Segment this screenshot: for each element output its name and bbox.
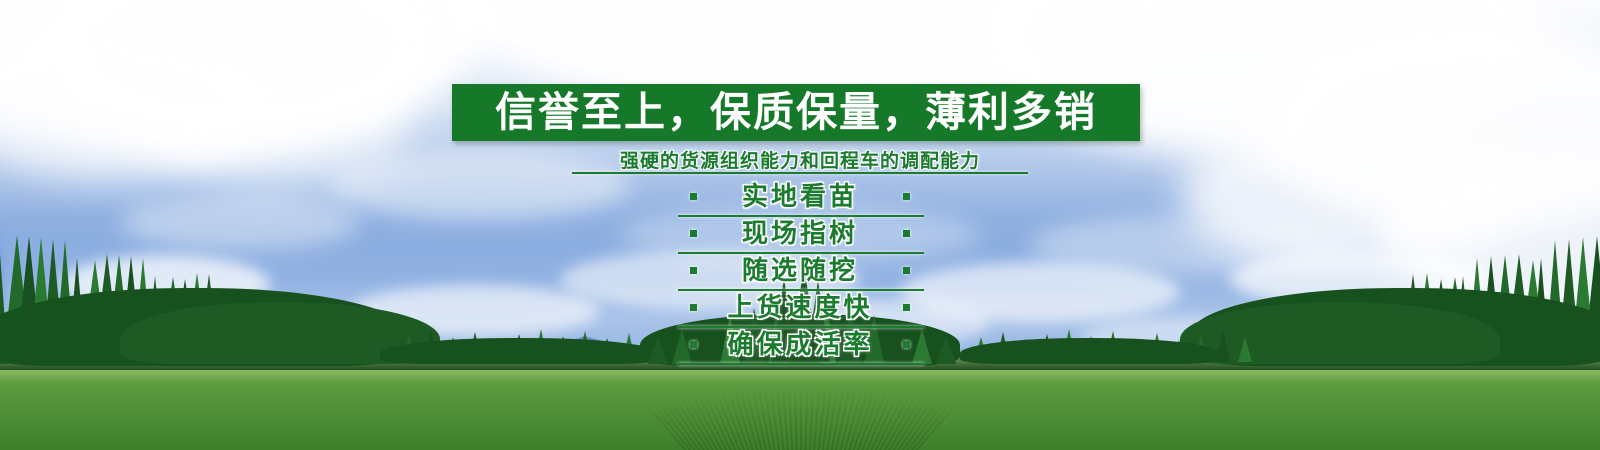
feature-separator: [678, 363, 924, 365]
bullet-dot-right-icon: [903, 267, 910, 274]
feature-label: 实地看苗: [742, 178, 858, 215]
bullet-dot-right-icon: [903, 230, 910, 237]
feature-label: 现场指树: [742, 215, 858, 252]
bullet-dot-right-icon: [903, 304, 910, 311]
feature-item: 上货速度快: [0, 289, 1600, 326]
feature-item: 现场指树: [0, 215, 1600, 252]
subtitle-underline: [572, 172, 1028, 174]
bullet-dot-right-icon: [903, 341, 910, 348]
headline-text: 信誉至上，保质保量，薄利多销: [452, 84, 1140, 141]
subtitle-text: 强硬的货源组织能力和回程车的调配能力: [0, 146, 1600, 173]
promo-banner: 信誉至上，保质保量，薄利多销 强硬的货源组织能力和回程车的调配能力 实地看苗现场…: [0, 0, 1600, 450]
feature-label: 上货速度快: [727, 289, 872, 326]
feature-label: 确保成活率: [727, 326, 872, 363]
feature-item: 确保成活率: [0, 326, 1600, 363]
bullet-dot-left-icon: [690, 341, 697, 348]
bullet-dot-right-icon: [903, 193, 910, 200]
bullet-dot-left-icon: [690, 193, 697, 200]
bullet-dot-left-icon: [690, 267, 697, 274]
feature-label: 随选随挖: [742, 252, 858, 289]
bullet-dot-left-icon: [690, 304, 697, 311]
feature-list: 实地看苗现场指树随选随挖上货速度快确保成活率: [0, 178, 1600, 363]
feature-item: 随选随挖: [0, 252, 1600, 289]
feature-item: 实地看苗: [0, 178, 1600, 215]
bullet-dot-left-icon: [690, 230, 697, 237]
